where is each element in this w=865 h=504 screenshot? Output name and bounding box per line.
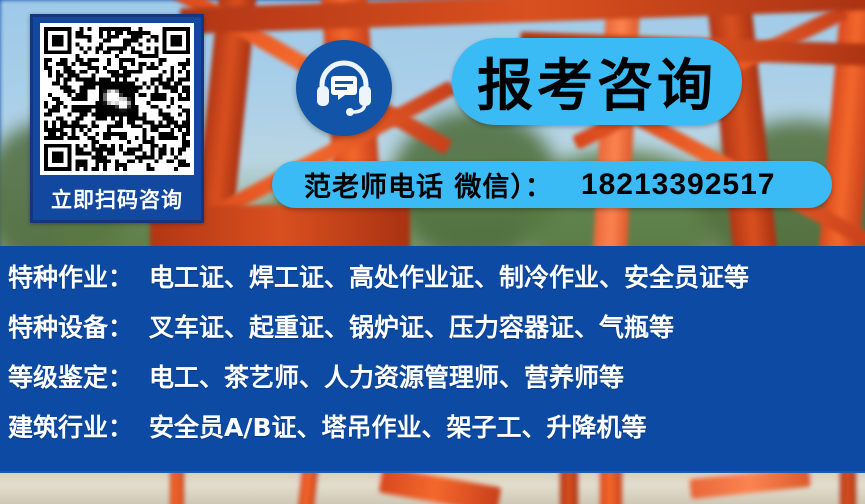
category-items: 安全员A/B证、塔吊作业、架子工、升降机等 bbox=[149, 408, 647, 444]
qr-code-canvas bbox=[44, 27, 190, 171]
contact-label: 范老师电话 微信）： bbox=[304, 165, 553, 204]
category-items: 电工、茶艺师、人力资源管理师、营养师等 bbox=[149, 358, 624, 394]
crane-beam bbox=[840, 473, 856, 504]
crane-beam bbox=[600, 473, 622, 504]
category-row: 建筑行业： 安全员A/B证、塔吊作业、架子工、升降机等 bbox=[0, 408, 865, 458]
crane-beam bbox=[379, 473, 502, 504]
crane-beam bbox=[689, 473, 810, 499]
category-label: 建筑行业： bbox=[8, 408, 133, 444]
category-items: 电工证、焊工证、高处作业证、制冷作业、安全员证等 bbox=[149, 258, 749, 294]
bottom-photo-strip bbox=[0, 473, 865, 504]
crane-beam bbox=[560, 473, 578, 504]
qr-code-image[interactable] bbox=[40, 23, 194, 175]
category-label: 特种作业： bbox=[8, 258, 133, 294]
category-row: 特种作业： 电工证、焊工证、高处作业证、制冷作业、安全员证等 bbox=[0, 258, 865, 308]
headset-support-icon[interactable] bbox=[296, 40, 392, 136]
qr-caption: 立即扫码咨询 bbox=[33, 179, 201, 221]
category-row: 特种设备： 叉车证、起重证、锅炉证、压力容器证、气瓶等 bbox=[0, 308, 865, 358]
category-label: 等级鉴定： bbox=[8, 358, 133, 394]
crane-beam bbox=[298, 473, 319, 504]
qr-card[interactable]: 立即扫码咨询 bbox=[30, 14, 204, 223]
promo-poster: 立即扫码咨询 报考咨询 范老师电话 微信）： 18213392517 特种作业：… bbox=[0, 0, 865, 504]
contact-phone-number[interactable]: 18213392517 bbox=[581, 168, 776, 202]
category-items: 叉车证、起重证、锅炉证、压力容器证、气瓶等 bbox=[149, 308, 674, 344]
category-list-panel: 特种作业： 电工证、焊工证、高处作业证、制冷作业、安全员证等 特种设备： 叉车证… bbox=[0, 246, 865, 473]
crane-beam bbox=[170, 473, 184, 504]
contact-pill[interactable]: 范老师电话 微信）： 18213392517 bbox=[272, 161, 832, 208]
title-label: 报考咨询 bbox=[477, 41, 717, 122]
title-pill[interactable]: 报考咨询 bbox=[452, 38, 742, 125]
category-label: 特种设备： bbox=[8, 308, 133, 344]
category-row: 等级鉴定： 电工、茶艺师、人力资源管理师、营养师等 bbox=[0, 358, 865, 408]
